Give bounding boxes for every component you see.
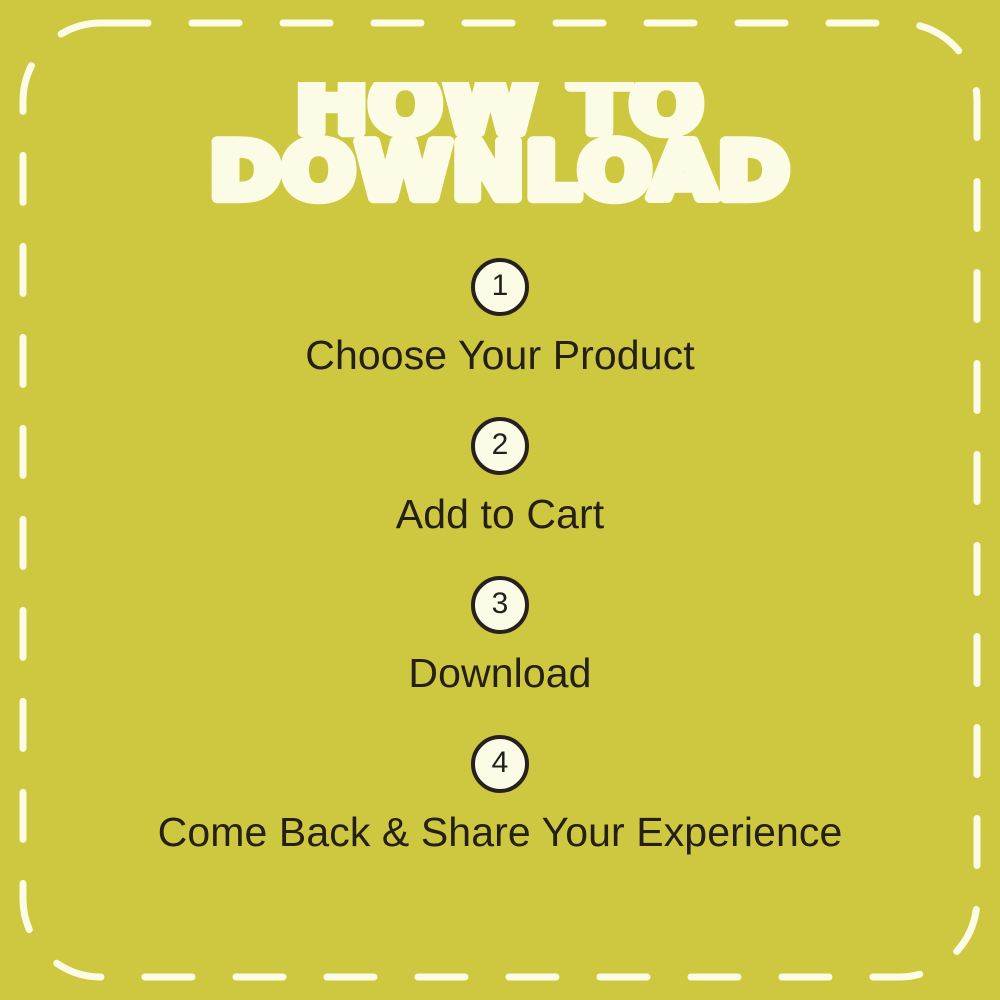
step-item-2: 2 Add to Cart xyxy=(0,417,1000,536)
step-label-4: Come Back & Share Your Experience xyxy=(0,811,1000,854)
step-number-4: 4 xyxy=(492,748,509,778)
step-label-3: Download xyxy=(0,652,1000,695)
page-title-line-2: DOWNLOAD xyxy=(210,127,791,214)
step-item-3: 3 Download xyxy=(0,576,1000,695)
step-label-1: Choose Your Product xyxy=(0,334,1000,377)
step-item-1: 1 Choose Your Product xyxy=(0,258,1000,377)
steps-list: 1 Choose Your Product 2 Add to Cart 3 Do… xyxy=(0,258,1000,854)
step-number-2: 2 xyxy=(492,430,509,460)
step-number-1: 1 xyxy=(492,271,509,301)
page-title: HOW TO DOWNLOAD xyxy=(0,82,1000,214)
how-to-download-poster: HOW TO DOWNLOAD 1 Choose Your Product 2 … xyxy=(0,0,1000,1000)
step-number-badge-4: 4 xyxy=(471,735,529,793)
step-number-badge-1: 1 xyxy=(471,258,529,316)
step-label-2: Add to Cart xyxy=(0,493,1000,536)
step-number-badge-3: 3 xyxy=(471,576,529,634)
step-number-badge-2: 2 xyxy=(471,417,529,475)
step-item-4: 4 Come Back & Share Your Experience xyxy=(0,735,1000,854)
step-number-3: 3 xyxy=(492,589,509,619)
